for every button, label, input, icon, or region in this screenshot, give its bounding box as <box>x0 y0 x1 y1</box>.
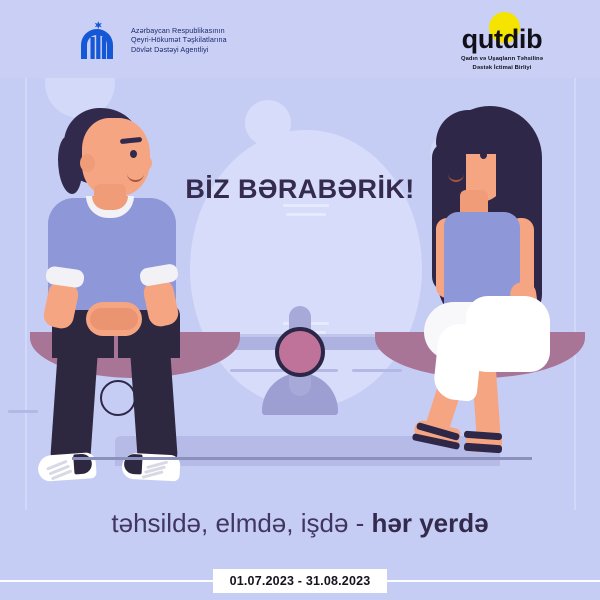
header-bar: Azərbaycan Respublikasının Qeyri-Hökumət… <box>0 0 600 78</box>
qutdib-subtitle-line1: Qadın və Uşaqların Təhsilinə <box>432 55 572 63</box>
man-ear <box>80 154 95 172</box>
tagline: təhsildə, elmdə, işdə - hər yerdə <box>0 508 600 539</box>
man-leg-right <box>130 345 178 467</box>
man-leg-left <box>50 345 98 467</box>
left-guide-line <box>25 78 27 510</box>
agency-name-line3: Dövlət Dəstəyi Agentliyi <box>131 45 227 55</box>
date-range-badge: 01.07.2023 - 31.08.2023 <box>213 569 388 593</box>
agency-emblem-icon <box>72 15 122 65</box>
qutdib-subtitle-line2: Dəstək İctimai Birliyi <box>432 64 572 72</box>
tagline-normal: təhsildə, elmdə, işdə - <box>111 508 371 538</box>
floor-dash-3 <box>8 410 38 413</box>
illustration-stage <box>0 78 600 510</box>
man-eye <box>130 150 137 158</box>
balance-fulcrum-icon <box>275 327 325 377</box>
page-title: BİZ BƏRABƏRİK! <box>0 174 600 205</box>
floor-line <box>72 457 532 460</box>
agency-logo: Azərbaycan Respublikasının Qeyri-Hökumət… <box>72 15 227 65</box>
date-bar: 01.07.2023 - 31.08.2023 <box>0 568 600 594</box>
man-hands-shadow <box>90 308 138 330</box>
poster: Azərbaycan Respublikasının Qeyri-Hökumət… <box>0 0 600 600</box>
agency-name-line2: Qeyri-Hökumət Təşkilatlarına <box>131 35 227 45</box>
woman-knee <box>432 322 484 402</box>
seated-man-figure <box>42 106 232 406</box>
man-nose <box>140 156 152 170</box>
woman-eye-left <box>452 151 459 159</box>
qutdib-wordmark: qutdib <box>432 24 572 54</box>
tagline-bold: hər yerdə <box>372 508 489 538</box>
agency-name-line1: Azərbaycan Respublikasının <box>131 26 227 36</box>
seated-woman-figure <box>408 106 588 406</box>
qutdib-logo: qutdib Qadın və Uşaqların Təhsilinə Dəst… <box>432 12 572 72</box>
woman-eye-right <box>480 151 487 159</box>
agency-name: Azərbaycan Respublikasının Qeyri-Hökumət… <box>131 26 227 55</box>
